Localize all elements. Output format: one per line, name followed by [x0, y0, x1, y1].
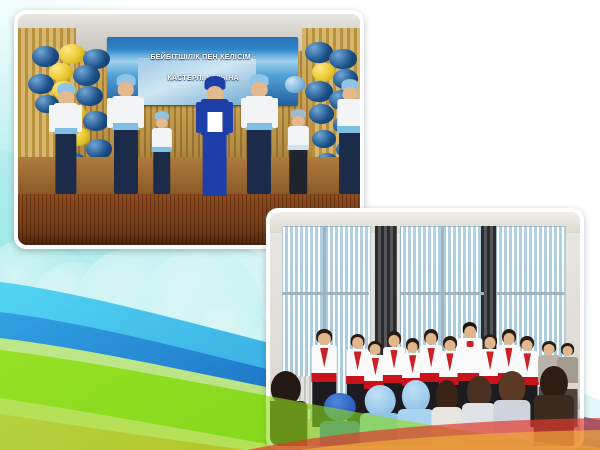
hall-scene [270, 212, 580, 446]
performer [148, 111, 175, 194]
performer [333, 79, 360, 195]
performer [285, 109, 312, 194]
audience-child [270, 371, 307, 446]
slide-canvas: БЕЙБІТШІЛІК ПЕН КЕЛІСІМ - КАСТЕРЛІ ҚАЗЫН… [0, 0, 600, 450]
cap-blue-overlay [320, 395, 360, 446]
audience-child [431, 380, 462, 446]
performer-soloist [196, 76, 234, 196]
photo-assembly-hall-choir[interactable] [266, 208, 584, 450]
audience-child-light-cap [397, 380, 434, 446]
performer [240, 74, 278, 194]
banner-text-line1: БЕЙБІТШІЛІК ПЕН КЕЛІСІМ - [121, 52, 285, 61]
window-frame [496, 292, 564, 295]
audience-child [493, 371, 530, 446]
audience-child [534, 366, 574, 446]
audience-child-light-cap [360, 385, 400, 446]
audience-child [462, 376, 496, 446]
performer [49, 83, 83, 194]
performer [107, 74, 145, 194]
